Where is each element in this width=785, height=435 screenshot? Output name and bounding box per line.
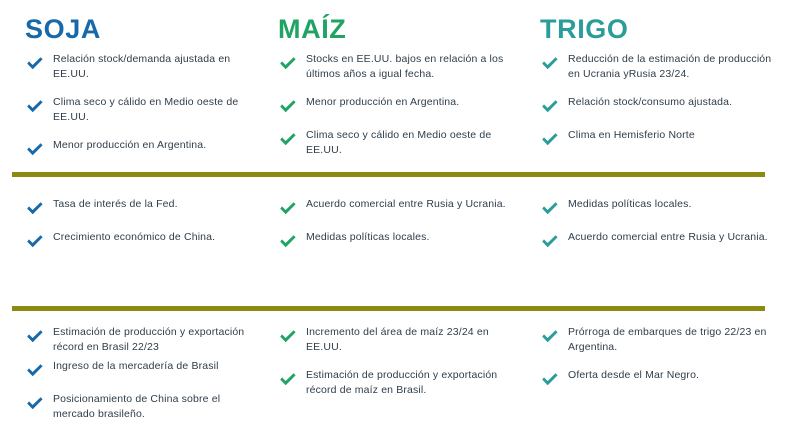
check-icon <box>25 142 45 158</box>
list-item: Menor producción en Argentina. <box>278 95 512 115</box>
column-trigo-header: TRIGO <box>520 16 785 46</box>
list-item-text: Estimación de producción y exportación r… <box>53 325 252 355</box>
section-1-body: Relación stock/demanda ajustada en EE.UU… <box>0 46 785 171</box>
section-1-column-soja: Relación stock/demanda ajustada en EE.UU… <box>0 52 260 171</box>
section-supply: Estimación de producción y exportación r… <box>0 311 785 435</box>
list-item-text: Prórroga de embarques de trigo 22/23 en … <box>568 325 777 355</box>
list-item: Posicionamiento de China sobre el mercad… <box>25 392 252 422</box>
list-item-text: Estimación de producción y exportación r… <box>306 368 512 398</box>
section-2-body: Tasa de interés de la Fed. Crecimiento e… <box>0 177 785 263</box>
list-item: Estimación de producción y exportación r… <box>25 325 252 355</box>
check-icon <box>540 372 560 388</box>
list-item-text: Clima seco y cálido en Medio oeste de EE… <box>306 128 512 158</box>
list-item: Clima seco y cálido en Medio oeste de EE… <box>278 128 512 158</box>
list-item: Acuerdo comercial entre Rusia y Ucrania. <box>278 197 512 217</box>
list-item: Menor producción en Argentina. <box>25 138 252 158</box>
check-icon <box>540 234 560 250</box>
column-soja-header: SOJA <box>0 16 260 46</box>
list-item-text: Menor producción en Argentina. <box>306 95 459 110</box>
list-item: Relación stock/demanda ajustada en EE.UU… <box>25 52 252 82</box>
list-item-text: Menor producción en Argentina. <box>53 138 206 153</box>
list-item-text: Clima en Hemisferio Norte <box>568 128 695 143</box>
page-title-trigo: TRIGO <box>540 16 777 43</box>
check-icon <box>540 99 560 115</box>
section-3-column-maiz: Incremento del área de maíz 23/24 en EE.… <box>260 325 520 435</box>
section-1-column-maiz: Stocks en EE.UU. bajos en relación a los… <box>260 52 520 171</box>
check-icon <box>278 99 298 115</box>
list-item: Medidas políticas locales. <box>540 197 777 217</box>
list-item-text: Posicionamiento de China sobre el mercad… <box>53 392 252 422</box>
list-item-text: Incremento del área de maíz 23/24 en EE.… <box>306 325 512 355</box>
list-item-text: Ingreso de la mercadería de Brasil <box>53 359 219 374</box>
list-item-text: Medidas políticas locales. <box>568 197 692 212</box>
list-item: Prórroga de embarques de trigo 22/23 en … <box>540 325 777 355</box>
check-icon <box>540 56 560 72</box>
column-headers: SOJA MAÍZ TRIGO <box>0 0 785 46</box>
list-item-text: Oferta desde el Mar Negro. <box>568 368 699 383</box>
check-icon <box>25 329 45 345</box>
section-macro: Tasa de interés de la Fed. Crecimiento e… <box>0 177 785 263</box>
list-item: Clima seco y cálido en Medio oeste de EE… <box>25 95 252 125</box>
list-item-text: Relación stock/consumo ajustada. <box>568 95 732 110</box>
column-maiz-header: MAÍZ <box>260 16 520 46</box>
list-item: Clima en Hemisferio Norte <box>540 128 777 148</box>
check-icon <box>278 201 298 217</box>
list-item: Tasa de interés de la Fed. <box>25 197 252 217</box>
section-2-column-maiz: Acuerdo comercial entre Rusia y Ucrania.… <box>260 197 520 263</box>
page-title-maiz: MAÍZ <box>278 16 512 43</box>
check-icon <box>25 99 45 115</box>
list-item: Reducción de la estimación de producción… <box>540 52 777 82</box>
list-item: Relación stock/consumo ajustada. <box>540 95 777 115</box>
section-2-column-soja: Tasa de interés de la Fed. Crecimiento e… <box>0 197 260 263</box>
section-1-column-trigo: Reducción de la estimación de producción… <box>520 52 785 171</box>
check-icon <box>540 201 560 217</box>
factors-board: SOJA MAÍZ TRIGO Relación stock/demanda a… <box>0 0 785 430</box>
section-2-column-trigo: Medidas políticas locales. Acuerdo comer… <box>520 197 785 263</box>
list-item: Acuerdo comercial entre Rusia y Ucrania. <box>540 230 777 250</box>
page-title-soja: SOJA <box>25 16 252 43</box>
list-item-text: Acuerdo comercial entre Rusia y Ucrania. <box>306 197 506 212</box>
list-item-text: Clima seco y cálido en Medio oeste de EE… <box>53 95 252 125</box>
list-item-text: Medidas políticas locales. <box>306 230 430 245</box>
check-icon <box>278 329 298 345</box>
check-icon <box>25 363 45 379</box>
list-item: Ingreso de la mercadería de Brasil <box>25 359 252 379</box>
list-item: Incremento del área de maíz 23/24 en EE.… <box>278 325 512 355</box>
check-icon <box>25 234 45 250</box>
list-item: Oferta desde el Mar Negro. <box>540 368 777 388</box>
check-icon <box>25 56 45 72</box>
check-icon <box>540 329 560 345</box>
list-item-text: Acuerdo comercial entre Rusia y Ucrania. <box>568 230 768 245</box>
section-drivers: SOJA MAÍZ TRIGO Relación stock/demanda a… <box>0 0 785 171</box>
list-item: Crecimiento económico de China. <box>25 230 252 250</box>
check-icon <box>278 56 298 72</box>
list-item: Stocks en EE.UU. bajos en relación a los… <box>278 52 512 82</box>
check-icon <box>278 372 298 388</box>
section-3-body: Estimación de producción y exportación r… <box>0 311 785 435</box>
section-3-column-trigo: Prórroga de embarques de trigo 22/23 en … <box>520 325 785 435</box>
list-item: Estimación de producción y exportación r… <box>278 368 512 398</box>
list-item-text: Relación stock/demanda ajustada en EE.UU… <box>53 52 252 82</box>
check-icon <box>278 132 298 148</box>
section-3-column-soja: Estimación de producción y exportación r… <box>0 325 260 435</box>
list-item-text: Reducción de la estimación de producción… <box>568 52 777 82</box>
check-icon <box>278 234 298 250</box>
list-item-text: Crecimiento económico de China. <box>53 230 215 245</box>
check-icon <box>540 132 560 148</box>
check-icon <box>25 201 45 217</box>
list-item-text: Tasa de interés de la Fed. <box>53 197 178 212</box>
list-item: Medidas políticas locales. <box>278 230 512 250</box>
check-icon <box>25 396 45 412</box>
list-item-text: Stocks en EE.UU. bajos en relación a los… <box>306 52 512 82</box>
